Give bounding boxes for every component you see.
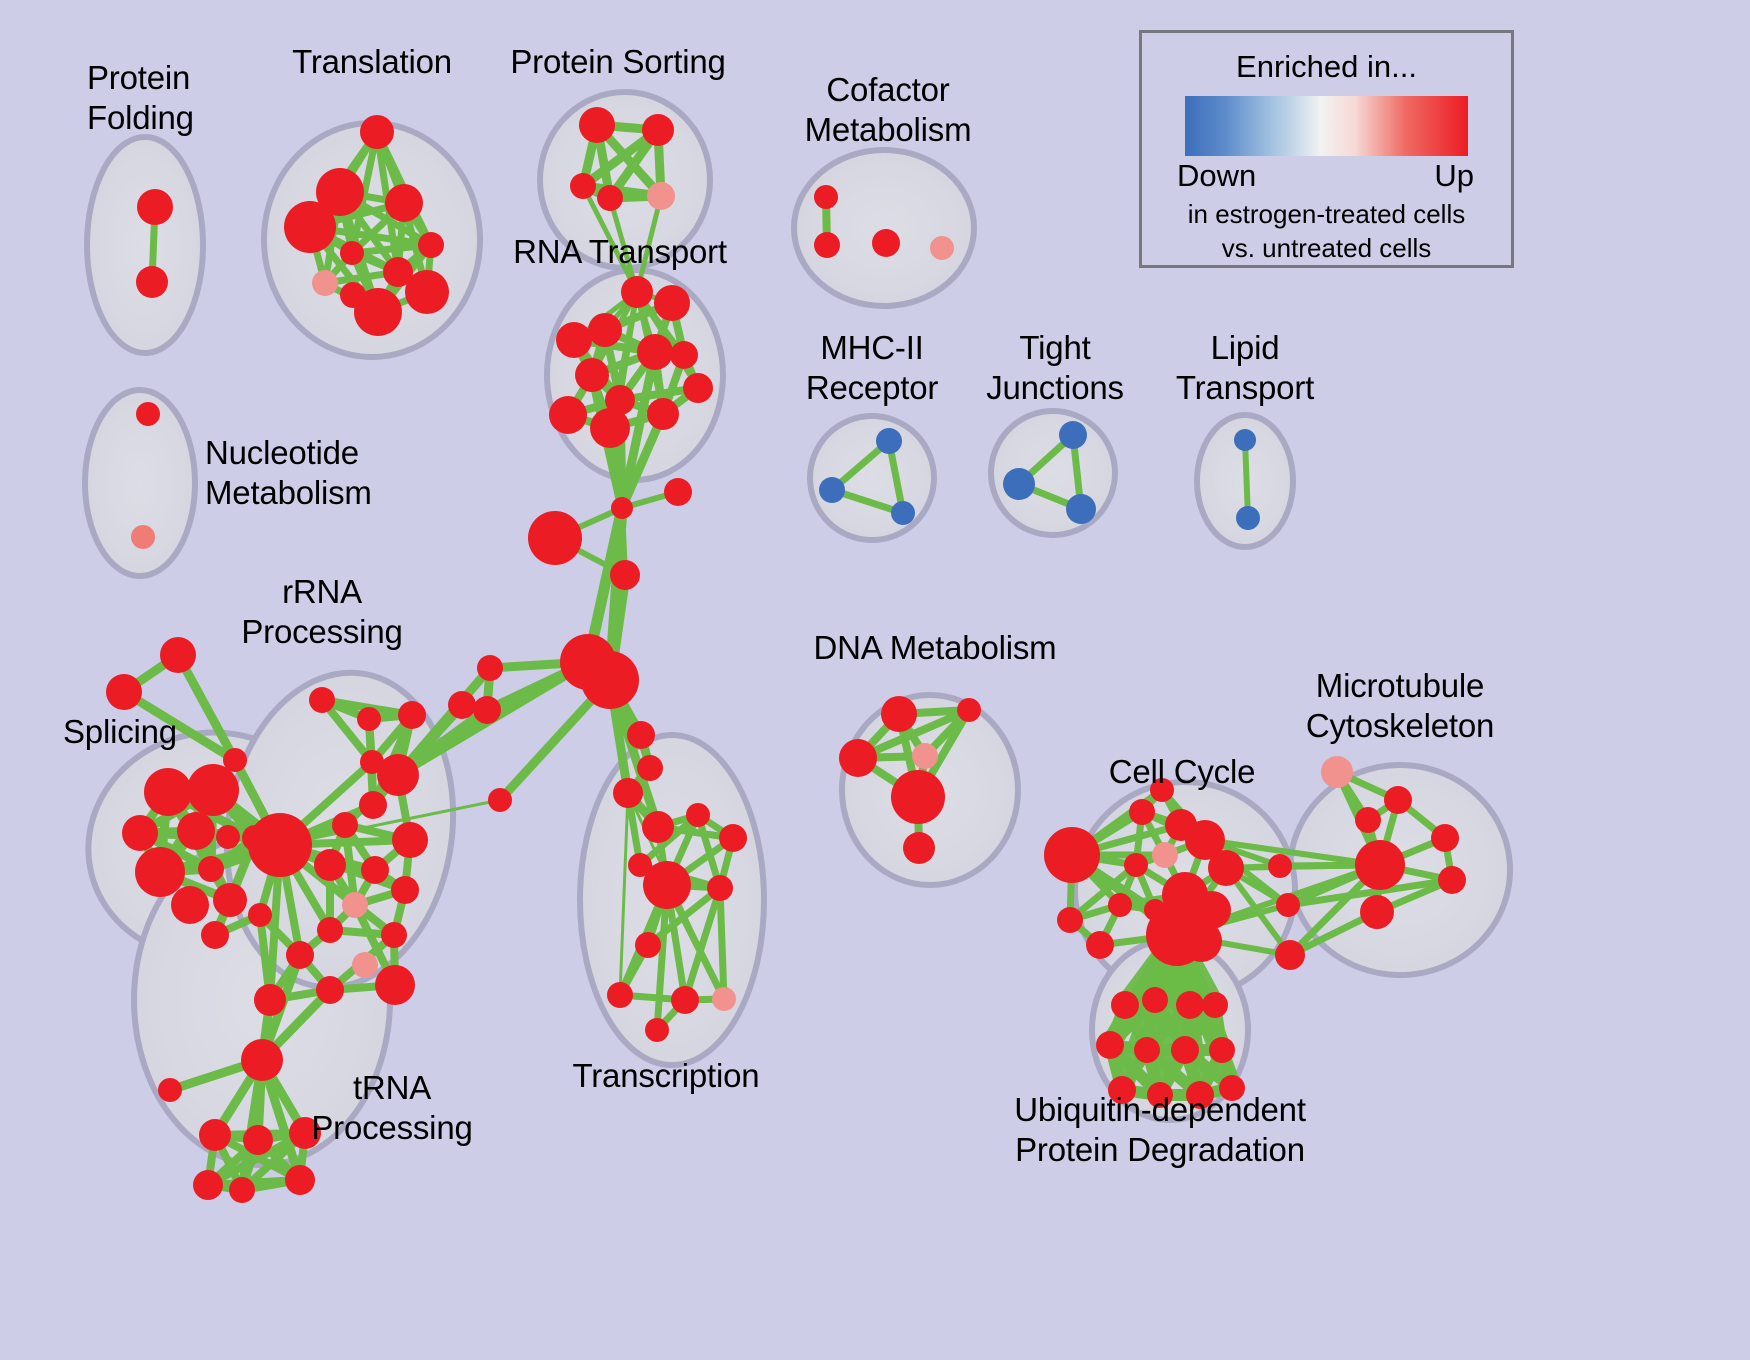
node	[361, 856, 389, 884]
node	[1086, 931, 1114, 959]
node	[216, 825, 240, 849]
cluster-label-trna-processing: tRNA Processing	[311, 1068, 472, 1148]
node	[1142, 987, 1168, 1013]
node	[1057, 907, 1083, 933]
node	[570, 173, 596, 199]
node	[588, 313, 622, 347]
node	[1321, 756, 1353, 788]
node	[1208, 850, 1244, 886]
node	[201, 921, 229, 949]
node	[1124, 853, 1148, 877]
node	[637, 334, 673, 370]
node	[607, 982, 633, 1008]
node	[385, 184, 423, 222]
cluster-label-nucleotide-metabolism: Nucleotide Metabolism	[205, 433, 372, 513]
node	[819, 477, 845, 503]
node	[1066, 494, 1096, 524]
node	[122, 815, 158, 851]
node	[590, 408, 630, 448]
node	[316, 976, 344, 1004]
node	[930, 236, 954, 260]
legend-endpoints: Down Up	[1185, 158, 1468, 196]
node	[418, 232, 444, 258]
node	[254, 984, 286, 1016]
node	[241, 1039, 283, 1081]
legend-caption-line1: in estrogen-treated cells	[1142, 198, 1511, 230]
node	[1234, 429, 1256, 451]
node	[1129, 799, 1155, 825]
node	[664, 478, 692, 506]
cluster-label-cell-cycle: Cell Cycle	[1109, 752, 1256, 792]
node	[610, 560, 640, 590]
node	[647, 398, 679, 430]
node	[488, 788, 512, 812]
node	[528, 511, 582, 565]
cluster-label-rrna-processing: rRNA Processing	[241, 572, 402, 652]
node	[360, 115, 394, 149]
node	[391, 876, 419, 904]
node	[375, 965, 415, 1005]
node	[243, 1125, 273, 1155]
cluster-label-protein-folding: Protein Folding	[87, 58, 194, 138]
node	[357, 707, 381, 731]
node	[637, 755, 663, 781]
node	[106, 674, 142, 710]
node	[135, 847, 185, 897]
node	[136, 266, 168, 298]
node	[670, 341, 698, 369]
node	[1209, 1037, 1235, 1063]
node	[707, 875, 733, 901]
node	[1003, 468, 1035, 500]
node	[229, 1177, 255, 1203]
node	[381, 922, 407, 948]
node	[340, 241, 364, 265]
node	[1275, 940, 1305, 970]
node	[1044, 827, 1100, 883]
node	[317, 917, 343, 943]
node	[1180, 920, 1222, 962]
node	[903, 832, 935, 864]
node	[627, 721, 655, 749]
node	[575, 358, 609, 392]
node	[187, 764, 239, 816]
node	[597, 185, 623, 211]
cluster-label-rna-transport: RNA Transport	[513, 232, 727, 272]
node	[712, 987, 736, 1011]
node	[392, 822, 428, 858]
node	[342, 892, 368, 918]
node	[312, 270, 338, 296]
node	[881, 696, 917, 732]
node	[177, 812, 215, 850]
node	[642, 811, 674, 843]
node	[1355, 840, 1405, 890]
node	[160, 637, 196, 673]
node	[621, 276, 653, 308]
node	[686, 803, 710, 827]
cluster-ellipse-protein-folding	[87, 137, 203, 353]
node	[1236, 506, 1260, 530]
cluster-label-translation: Translation	[292, 42, 452, 82]
node	[1276, 893, 1300, 917]
legend-low-label: Down	[1177, 158, 1256, 194]
node	[814, 185, 838, 209]
node	[814, 232, 840, 258]
node	[1059, 421, 1087, 449]
node	[332, 812, 358, 838]
node	[1152, 842, 1178, 868]
node	[198, 856, 224, 882]
node	[1355, 807, 1381, 833]
node	[1431, 824, 1459, 852]
legend-caption-line2: vs. untreated cells	[1142, 232, 1511, 264]
node	[398, 701, 426, 729]
node	[477, 655, 503, 681]
cluster-label-splicing: Splicing	[63, 712, 177, 752]
node	[839, 739, 877, 777]
node	[248, 903, 272, 927]
cluster-label-mhc-ii-receptor: MHC-II Receptor	[806, 328, 938, 408]
node	[579, 107, 615, 143]
cluster-label-tight-junctions: Tight Junctions	[986, 328, 1124, 408]
node	[1438, 866, 1466, 894]
node	[193, 1170, 223, 1200]
cluster-label-protein-sorting: Protein Sorting	[510, 42, 725, 82]
cluster-label-lipid-transport: Lipid Transport	[1176, 328, 1314, 408]
node	[643, 861, 691, 909]
cluster-label-microtubule: Microtubule Cytoskeleton	[1306, 666, 1494, 746]
node	[1108, 893, 1132, 917]
cluster-ellipse-cofactor-metabolism	[794, 150, 974, 306]
legend-title: Enriched in...	[1142, 49, 1511, 85]
node	[549, 396, 587, 434]
node	[354, 288, 402, 336]
node	[613, 778, 643, 808]
node	[1384, 786, 1412, 814]
node	[1171, 1036, 1199, 1064]
node	[285, 1165, 315, 1195]
network-figure: Protein Folding Translation Nucleotide M…	[0, 0, 1750, 1360]
node	[248, 813, 312, 877]
node	[872, 229, 900, 257]
node	[144, 768, 192, 816]
node	[912, 743, 938, 769]
node	[1202, 992, 1228, 1018]
cluster-label-ubiquitin: Ubiquitin-dependent Protein Degradation	[1014, 1090, 1306, 1170]
node	[581, 651, 639, 709]
node	[473, 696, 501, 724]
node	[1134, 1037, 1160, 1063]
node	[377, 754, 419, 796]
node	[405, 270, 449, 314]
node	[654, 285, 690, 321]
node	[556, 322, 592, 358]
cluster-label-cofactor-metabolism: Cofactor Metabolism	[805, 70, 972, 150]
node	[671, 986, 699, 1014]
node	[683, 373, 713, 403]
node	[891, 770, 945, 824]
node	[1111, 991, 1139, 1019]
node	[213, 883, 247, 917]
cluster-label-dna-metabolism: DNA Metabolism	[814, 628, 1057, 668]
node	[448, 691, 476, 719]
node	[957, 698, 981, 722]
node	[719, 824, 747, 852]
node	[645, 1018, 669, 1042]
cluster-label-transcription: Transcription	[573, 1056, 760, 1096]
node	[635, 932, 661, 958]
legend-color-bar	[1185, 96, 1468, 156]
node	[286, 941, 314, 969]
node	[1176, 991, 1204, 1019]
node	[359, 791, 387, 819]
node	[891, 501, 915, 525]
node	[642, 114, 674, 146]
node	[314, 849, 346, 881]
node	[199, 1119, 231, 1151]
legend-panel: Enriched in... Down Up in estrogen-treat…	[1139, 30, 1514, 268]
node	[352, 952, 378, 978]
node	[284, 201, 336, 253]
node	[171, 886, 209, 924]
node	[309, 687, 335, 713]
node	[131, 525, 155, 549]
node	[647, 182, 675, 210]
legend-high-label: Up	[1434, 158, 1474, 194]
node	[136, 402, 160, 426]
node	[1360, 895, 1394, 929]
node	[158, 1078, 182, 1102]
node	[1096, 1031, 1124, 1059]
node	[1268, 854, 1292, 878]
node	[611, 497, 633, 519]
node	[876, 428, 902, 454]
node	[137, 189, 173, 225]
